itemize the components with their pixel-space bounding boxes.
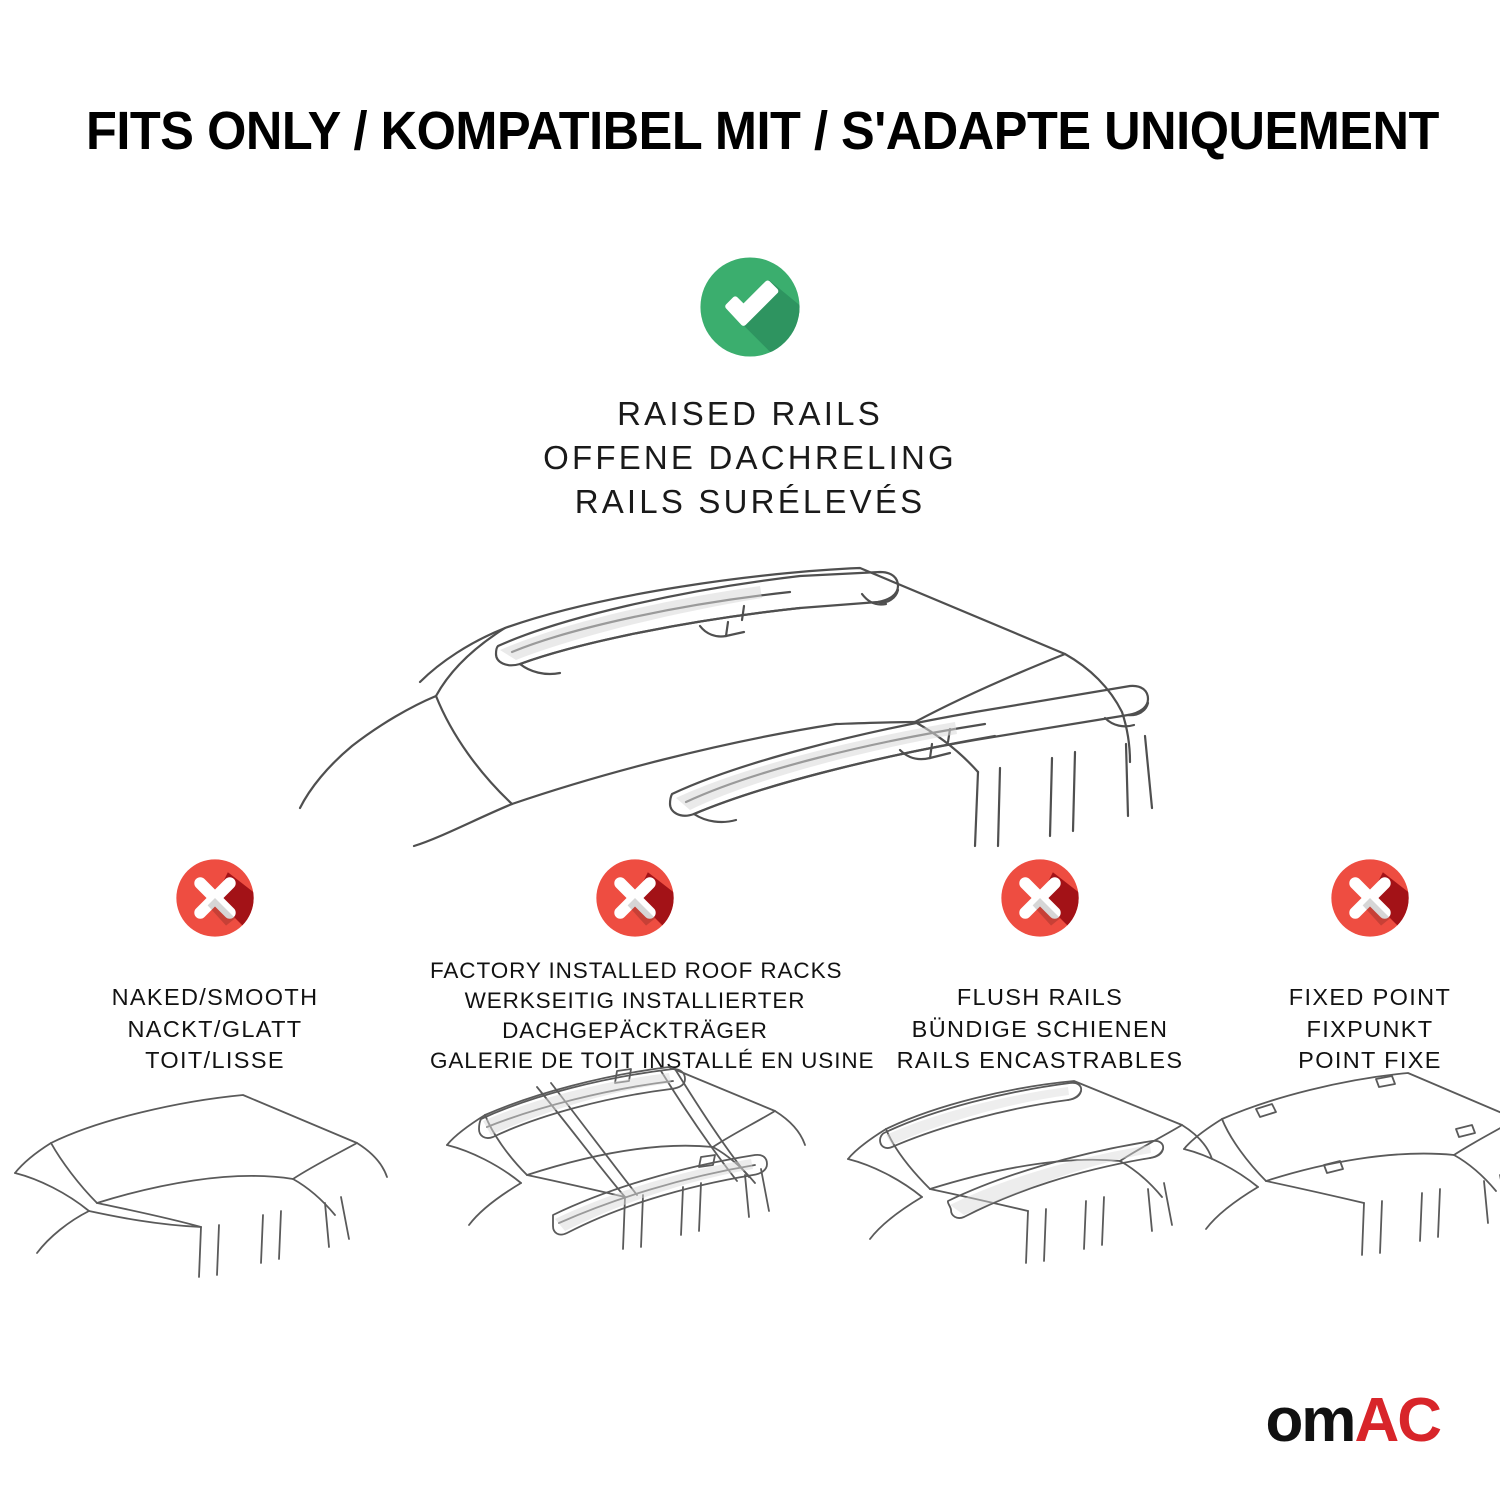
incompatible-label-de: NACKT/GLATT: [0, 1014, 430, 1045]
x-circle-icon-svg: [994, 852, 1086, 944]
incompatible-label-en: NAKED/SMOOTH: [0, 982, 430, 1013]
incompatible-label-de-1: WERKSEITIG INSTALLIERTER: [430, 986, 840, 1016]
incompatible-item-flush-rails: FLUSH RAILS BÜNDIGE SCHIENEN RAILS ENCAS…: [840, 852, 1240, 948]
x-circle-icon-svg: [169, 852, 261, 944]
incompatible-label-de: FIXPUNKT: [1240, 1014, 1500, 1045]
car-roof-fixed-point-illustration: [1160, 1057, 1500, 1297]
logo-text-dark: om: [1265, 1386, 1354, 1455]
x-circle-icon-svg: [1324, 852, 1416, 944]
x-circle-icon-svg: [589, 852, 681, 944]
car-roof-raised-rails-illustration: [0, 546, 1500, 846]
check-circle-icon-svg: [691, 248, 809, 366]
incompatible-item-fixed-point: FIXED POINT FIXPUNKT POINT FIXE: [1240, 852, 1500, 948]
incompatible-section: NAKED/SMOOTH NACKT/GLATT TOIT/LISSE: [0, 852, 1500, 948]
incompatible-label-en: FIXED POINT: [1240, 982, 1500, 1013]
incompatible-label-de: BÜNDIGE SCHIENEN: [840, 1014, 1240, 1045]
check-circle-icon: [691, 248, 809, 366]
x-circle-icon: [589, 852, 681, 948]
car-roof-factory-roof-racks-illustration: [425, 1057, 845, 1297]
x-circle-icon: [169, 852, 261, 948]
x-circle-icon: [1324, 852, 1416, 948]
logo-text-red: AC: [1354, 1386, 1440, 1455]
compatible-label-fr: RAILS SURÉLEVÉS: [0, 480, 1500, 524]
x-circle-icon: [994, 852, 1086, 948]
incompatible-item-factory-roof-racks: FACTORY INSTALLED ROOF RACKS WERKSEITIG …: [430, 852, 840, 948]
omac-logo: omAC: [1265, 1390, 1440, 1452]
compatible-label-en: RAISED RAILS: [0, 392, 1500, 436]
compatible-label-de: OFFENE DACHRELING: [0, 436, 1500, 480]
compatible-label-group: RAISED RAILS OFFENE DACHRELING RAILS SUR…: [0, 392, 1500, 524]
incompatible-label-en: FLUSH RAILS: [840, 982, 1240, 1013]
car-roof-naked-smooth-illustration: [5, 1057, 425, 1297]
page-title: FITS ONLY / KOMPATIBEL MIT / S'ADAPTE UN…: [86, 104, 1339, 158]
incompatible-label-en: FACTORY INSTALLED ROOF RACKS: [430, 956, 840, 986]
incompatible-label-de-2: DACHGEPÄCKTRÄGER: [430, 1016, 840, 1046]
incompatible-item-naked-smooth: NAKED/SMOOTH NACKT/GLATT TOIT/LISSE: [0, 852, 430, 948]
compatible-section: RAISED RAILS OFFENE DACHRELING RAILS SUR…: [0, 248, 1500, 851]
